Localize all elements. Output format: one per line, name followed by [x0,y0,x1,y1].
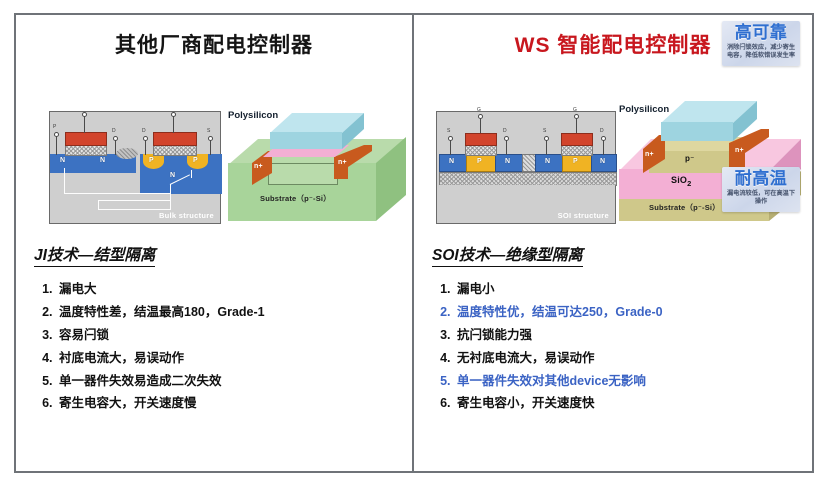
bulk-terminal-label-1: P [53,124,56,130]
bulk-region-label-n2: N [100,157,105,164]
soi-gate-label-left: G [477,107,481,113]
soi-terminal-dot-2 [504,136,509,141]
bulk-terminal-label-3: D [142,128,146,134]
soi-contact-label-right: n+ [735,147,744,154]
soi-terminal-label-1: S [447,128,450,134]
soi-terminal-lead-2 [506,140,507,155]
bulk-parasitic-seg-2 [64,193,114,194]
soi-terminal-label-4: D [600,128,604,134]
bulk-gate-terminal-left [82,112,87,117]
list-item: 抗闩锁能力强 [454,328,794,342]
bulk-terminal-lead-1 [56,136,57,155]
soi-gate-terminal-right [574,114,579,119]
soi-terminal-lead-3 [546,140,547,155]
soi-gate-terminal-left [478,114,483,119]
soi-structure-caption: SOI structure [558,211,609,220]
bulk-gate-lead-right [173,116,174,133]
list-item: 单一器件失效易造成二次失效 [56,374,394,388]
soi-terminal-lead-1 [450,140,451,155]
badge-title: 耐高温 [726,170,796,188]
soi-terminal-dot-3 [544,136,549,141]
right-panel: WS 智能配电控制器 N P N N P N [414,15,812,471]
bulk-gate-terminal-right [171,112,176,117]
list-item: 寄生电容大，开关速度慢 [56,396,394,410]
bulk-terminal-lead-3 [145,140,146,155]
badge-high-reliability: 高可靠 消除闩锁效应，减少寄生电容，降低软错误发生率 [722,21,800,66]
right-section-heading: SOI技术—绝缘型隔离 [432,243,583,267]
bulk-terminal-dot-1 [54,132,59,137]
soi-region-label-n1: N [449,158,454,165]
left-section-heading: JI技术—结型隔离 [34,243,155,267]
bulk-region-label-p2: P [193,157,198,164]
soi-contact-label-left: n+ [645,151,654,158]
bulk-cross-section-diagram: N N P P N [49,111,221,224]
soi-region-label-n4: N [600,158,605,165]
list-item: 衬底电流大，易误动作 [56,351,394,365]
soi-gate-lead-left [480,118,481,133]
soi-gate-label-right: G [573,107,577,113]
soi-terminal-label-2: D [503,128,507,134]
list-item: 无衬底电流大，易误动作 [454,351,794,365]
bulk-terminal-label-4: S [207,128,210,134]
bulk-contact-label-left: n+ [254,163,263,170]
bulk-gate-metal-left [65,132,107,146]
left-diagram-row: N N P P N [16,83,412,231]
left-panel-title: 其他厂商配电控制器 [16,29,412,59]
soi-terminal-dot-4 [601,136,606,141]
soi-cross-section-diagram: N P N N P N [436,111,616,224]
bulk-3d-block: n+ n+ Polysilicon Substrate（p⁻-Si） [228,105,408,227]
list-item: 漏电小 [454,282,794,296]
bulk-structure-caption: Bulk structure [159,211,214,220]
soi-buried-oxide [439,172,617,186]
soi-region-label-p1: P [477,158,482,165]
list-item: 漏电大 [56,282,394,296]
right-list-wrap: SOI技术—绝缘型隔离 漏电小 温度特性优，结温可达250，Grade-0 抗闩… [414,243,812,419]
list-item: 温度特性差，结温最高180，Grade-1 [56,305,394,319]
left-bullet-list: 漏电大 温度特性差，结温最高180，Grade-1 容易闩锁 衬底电流大，易误动… [34,282,394,411]
bulk-terminal-dot-4 [208,136,213,141]
list-item: 温度特性优，结温可达250，Grade-0 [454,305,794,319]
left-panel: 其他厂商配电控制器 N N P P [16,15,414,471]
list-item: 寄生电容小，开关速度快 [454,396,794,410]
bulk-parasitic-seg-7 [170,184,171,210]
soi-region-label-n2: N [505,158,510,165]
bulk-parasitic-seg-9 [191,170,192,178]
bulk-parasitic-seg-4 [98,200,170,201]
soi-gate-metal-right [561,133,593,146]
badge-title: 高可靠 [726,24,796,42]
bulk-terminal-label-2: D [112,128,116,134]
bulk-channel-face [268,163,338,185]
soi-gate-metal-left [465,133,497,146]
soi-isolation-region [522,154,536,172]
bulk-region-label-p1: P [149,157,154,164]
bulk-parasitic-seg-1 [64,168,65,194]
bulk-region-label-n1: N [60,157,65,164]
left-list-wrap: JI技术—结型隔离 漏电大 温度特性差，结温最高180，Grade-1 容易闩锁… [16,243,412,419]
soi-polysilicon-label: Polysilicon [619,104,669,115]
slide-root: 其他厂商配电控制器 N N P P [0,0,828,486]
soi-region-label-n3: N [545,158,550,165]
bulk-terminal-lead-4 [210,140,211,155]
bulk-terminal-dot-2 [113,136,118,141]
bulk-polysilicon-front [270,132,342,149]
badge-subtitle: 漏电流较低，可在高温下操作 [726,190,796,207]
badge-high-temperature: 耐高温 漏电流较低，可在高温下操作 [722,167,800,212]
soi-polysilicon-front [661,122,733,141]
bulk-region-label-n3: N [170,172,175,179]
bulk-gate-metal-right [153,132,197,146]
soi-terminal-lead-4 [603,140,604,155]
soi-terminal-label-3: S [543,128,546,134]
bulk-parasitic-seg-6 [98,209,170,210]
bulk-terminal-dot-3 [143,136,148,141]
list-item: 单一器件失效对其他device无影响 [454,374,794,388]
bulk-parasitic-seg-3 [114,193,170,194]
soi-substrate-label: Substrate（p⁻-Si） [649,202,720,213]
list-item: 容易闩锁 [56,328,394,342]
soi-region-label-p2: P [573,158,578,165]
bulk-substrate-label: Substrate（p⁻-Si） [260,193,331,204]
soi-terminal-dot-1 [448,136,453,141]
bulk-gate-lead-left [84,116,85,133]
bulk-polysilicon-label: Polysilicon [228,110,278,121]
soi-body-label: p⁻ [685,154,695,163]
bulk-parasitic-blob [116,148,138,159]
right-bullet-list: 漏电小 温度特性优，结温可达250，Grade-0 抗闩锁能力强 无衬底电流大，… [432,282,794,411]
soi-oxide-label: SiO2 [671,175,691,188]
soi-gate-lead-right [576,118,577,133]
comparison-frame: 其他厂商配电控制器 N N P P [14,13,814,473]
badge-subtitle: 消除闩锁效应，减少寄生电容，降低软错误发生率 [726,44,796,61]
bulk-contact-label-right: n+ [338,159,347,166]
